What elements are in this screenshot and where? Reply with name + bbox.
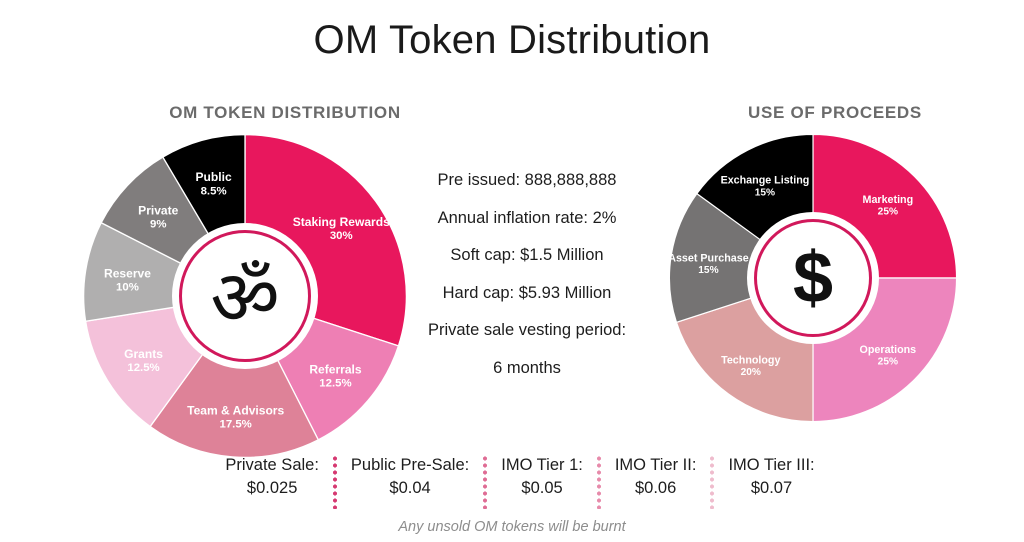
om-symbol-icon: ॐ bbox=[210, 260, 279, 336]
pie-slice-value: 25% bbox=[878, 207, 898, 218]
fact-line: Hard cap: $5.93 Million bbox=[404, 285, 650, 302]
om-token-distribution-donut-chart: Staking Rewards30%Referrals12.5%Team & A… bbox=[82, 133, 408, 459]
pie-slice-label: Exchange Listing bbox=[721, 175, 810, 187]
left-chart-heading: OM TOKEN DISTRIBUTION bbox=[100, 103, 470, 123]
price-tier-cell: Private Sale:$0.025 bbox=[217, 455, 327, 500]
burn-footnote: Any unsold OM tokens will be burnt bbox=[0, 519, 1024, 535]
pie-slice-label: Referrals bbox=[309, 362, 362, 376]
dotted-divider bbox=[597, 455, 601, 509]
price-tier-cell: IMO Tier 1:$0.05 bbox=[493, 455, 591, 500]
pie-slice-value: 25% bbox=[878, 356, 898, 367]
price-tier-value: $0.025 bbox=[225, 476, 319, 501]
price-tier-value: $0.07 bbox=[728, 476, 814, 501]
fact-line: Annual inflation rate: 2% bbox=[404, 210, 650, 227]
pie-slice-label: Operations bbox=[860, 344, 917, 356]
fact-line: 6 months bbox=[404, 360, 650, 377]
fact-line: Soft cap: $1.5 Million bbox=[404, 247, 650, 264]
pie-slice-value: 10% bbox=[116, 281, 139, 293]
fact-line: Pre issued: 888,888,888 bbox=[404, 172, 650, 189]
pie-slice-value: 15% bbox=[755, 187, 775, 198]
price-tier-label: IMO Tier 1: bbox=[501, 455, 583, 476]
page-title: OM Token Distribution bbox=[0, 18, 1024, 63]
pie-slice-value: 9% bbox=[150, 219, 167, 231]
token-facts-list: Pre issued: 888,888,888Annual inflation … bbox=[404, 172, 650, 376]
pie-slice-label: Marketing bbox=[863, 194, 914, 206]
price-tier-cell: Public Pre-Sale:$0.04 bbox=[343, 455, 477, 500]
om-logo-hub: ॐ bbox=[179, 230, 311, 362]
price-tier-label: Private Sale: bbox=[225, 455, 319, 476]
pie-slice-label: Public bbox=[196, 170, 232, 184]
price-tier-label: IMO Tier II: bbox=[615, 455, 697, 476]
dollar-hub: $ bbox=[754, 219, 872, 337]
fact-line: Private sale vesting period: bbox=[404, 322, 650, 339]
price-tier-value: $0.04 bbox=[351, 476, 469, 501]
price-tier-cell: IMO Tier III:$0.07 bbox=[720, 455, 822, 500]
pie-slice-label: Technology bbox=[721, 355, 780, 367]
price-tier-value: $0.05 bbox=[501, 476, 583, 501]
pie-slice-value: 15% bbox=[698, 265, 718, 276]
dotted-divider bbox=[333, 455, 337, 509]
dotted-divider bbox=[483, 455, 487, 509]
dotted-divider bbox=[710, 455, 714, 509]
price-tier-label: Public Pre-Sale: bbox=[351, 455, 469, 476]
use-of-proceeds-donut-chart: Marketing25%Operations25%Technology20%As… bbox=[668, 133, 958, 423]
pie-slice-value: 12.5% bbox=[319, 377, 351, 389]
sale-price-tiers: Private Sale:$0.025Public Pre-Sale:$0.04… bbox=[170, 455, 870, 509]
pie-slice-label: Asset Purchase bbox=[668, 252, 748, 264]
pie-slice-label: Reserve bbox=[104, 266, 151, 280]
pie-slice-label: Private bbox=[138, 204, 178, 218]
pie-slice-value: 30% bbox=[330, 230, 353, 242]
price-tier-value: $0.06 bbox=[615, 476, 697, 501]
price-tier-label: IMO Tier III: bbox=[728, 455, 814, 476]
pie-slice-value: 20% bbox=[741, 367, 761, 378]
pie-slice-value: 12.5% bbox=[127, 362, 159, 374]
price-tier-cell: IMO Tier II:$0.06 bbox=[607, 455, 705, 500]
pie-slice-label: Staking Rewards bbox=[293, 215, 390, 229]
pie-slice-value: 8.5% bbox=[201, 185, 227, 197]
slide-canvas: OM Token Distribution OM TOKEN DISTRIBUT… bbox=[0, 0, 1024, 542]
pie-slice-label: Grants bbox=[124, 347, 163, 361]
pie-slice-label: Team & Advisors bbox=[187, 404, 284, 418]
dollar-symbol-icon: $ bbox=[793, 242, 833, 314]
right-chart-heading: USE OF PROCEEDS bbox=[650, 103, 1020, 123]
pie-slice-value: 17.5% bbox=[219, 419, 251, 431]
